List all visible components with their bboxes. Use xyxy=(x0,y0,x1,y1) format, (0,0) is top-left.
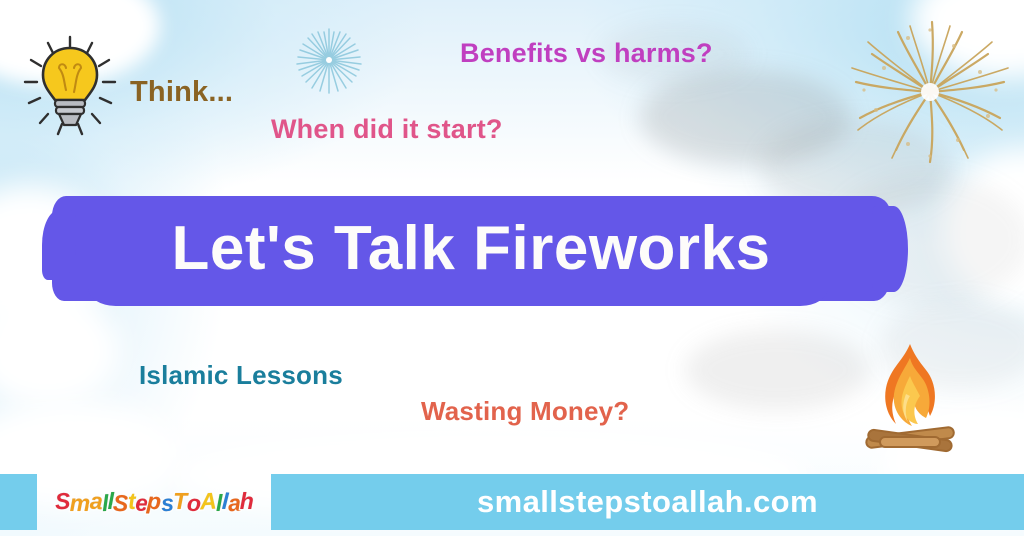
brand-logo[interactable]: SmallStepsToAllah xyxy=(55,477,253,527)
logo-letter: p xyxy=(147,489,162,513)
campfire-icon xyxy=(856,336,964,454)
brand-logo-wordmark: SmallStepsToAllah xyxy=(55,491,253,514)
logo-letter: h xyxy=(240,490,253,513)
logo-letter: m xyxy=(70,492,90,515)
label-when-did-it-start: When did it start? xyxy=(271,114,503,145)
firework-blue-icon xyxy=(286,20,372,100)
label-wasting-money: Wasting Money? xyxy=(421,396,629,427)
logo-letter: A xyxy=(199,489,216,513)
site-url[interactable]: smallstepstoallah.com xyxy=(271,474,1024,530)
firework-gold-icon xyxy=(846,6,1014,174)
logo-letter: S xyxy=(54,489,70,513)
page-title: Let's Talk Fireworks xyxy=(52,196,890,301)
title-banner: Let's Talk Fireworks xyxy=(52,196,890,301)
logo-letter: T xyxy=(173,490,186,513)
label-islamic-lessons: Islamic Lessons xyxy=(139,360,343,391)
logo-letter: S xyxy=(113,491,129,515)
logo-letter: a xyxy=(89,489,102,513)
poster-canvas: Think... Benefits vs harms? When did it … xyxy=(0,0,1024,536)
smoke-puff-lower-center xyxy=(685,330,870,410)
logo-letter: a xyxy=(227,491,240,515)
label-think: Think... xyxy=(130,76,233,109)
label-benefits-vs-harms: Benefits vs harms? xyxy=(460,38,713,69)
lightbulb-icon xyxy=(18,30,122,140)
logo-letter: o xyxy=(186,491,201,515)
footer-bar-left xyxy=(0,474,37,530)
logo-letter: s xyxy=(160,491,173,515)
